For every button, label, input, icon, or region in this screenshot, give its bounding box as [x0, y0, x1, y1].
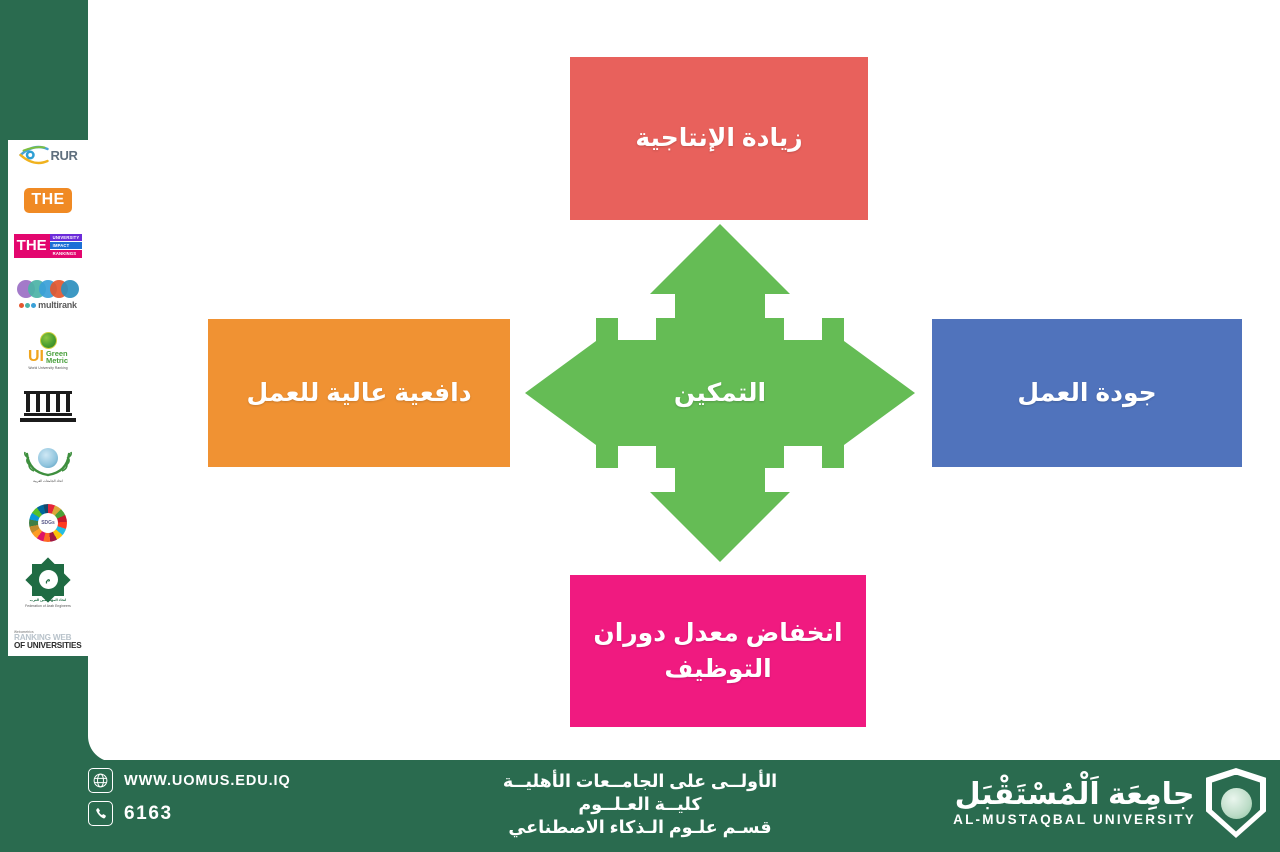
brand-arabic-name: جامِعَة اَلْمُسْتَقْبَل	[953, 779, 1196, 811]
brand-english-name: AL-MUSTAQBAL UNIVERSITY	[953, 812, 1196, 827]
university-shield-emblem	[1206, 768, 1266, 838]
node-top-label: زيادة الإنتاجية	[635, 120, 802, 156]
laurel-wreath-icon	[21, 444, 75, 478]
federation-arab-engineers-logo: م اتحاد المهندسين العرب Federation of Ar…	[10, 564, 86, 608]
university-brand-block: جامِعَة اَلْمُسْتَقْبَل AL-MUSTAQBAL UNI…	[953, 768, 1266, 838]
empowerment-diagram: زيادة الإنتاجية دافعية عالية للعمل جودة …	[0, 0, 1280, 852]
arab-universities-wreath-logo: اتحاد الجامعات العربية	[10, 444, 86, 483]
node-increase-productivity: زيادة الإنتاجية	[570, 57, 868, 220]
arab-universities-caption: اتحاد الجامعات العربية	[33, 479, 63, 483]
multirank-logo-text: multirank	[38, 300, 77, 310]
webometrics-line2: OF UNIVERSITIES	[14, 642, 82, 650]
multirank-dots-icon	[19, 303, 36, 308]
impact-bar-university: UNIVERSITY	[50, 234, 83, 241]
node-high-work-motivation: دافعية عالية للعمل	[208, 319, 510, 467]
rur-logo: RUR	[10, 144, 86, 166]
node-right-label: جودة العمل	[1017, 375, 1156, 411]
greenmetric-caption: World University Ranking	[28, 366, 67, 370]
the-logo-text: THE	[24, 188, 71, 213]
pillars-emblem-logo	[10, 391, 86, 422]
the-logo: THE	[10, 188, 86, 213]
arab-engineers-monogram: م	[39, 570, 58, 589]
rur-logo-text: RUR	[51, 148, 78, 163]
impact-bar-rankings: RANKINGS	[50, 250, 83, 257]
sdg-wheel-logo: SDGs	[10, 504, 86, 542]
pillars-icon	[24, 391, 72, 422]
four-way-arrow-icon	[522, 222, 918, 564]
greenmetric-metric-text: Metric	[46, 357, 68, 365]
impact-bar-impact: IMPACT	[50, 242, 83, 249]
arab-engineers-caption-en: Federation of Arab Engineers	[25, 604, 71, 608]
the-impact-mark: THE	[14, 234, 50, 258]
the-impact-rankings-logo: THE UNIVERSITY IMPACT RANKINGS	[10, 234, 86, 258]
multirank-circles-icon	[17, 279, 79, 299]
sdg-wheel-icon: SDGs	[29, 504, 67, 542]
node-bottom-label: انخفاض معدل دوران التوظيف	[582, 615, 854, 688]
rur-eye-icon	[19, 144, 49, 166]
webometrics-logo: Webometrics RANKING WEB OF UNIVERSITIES	[10, 630, 86, 650]
u-multirank-logo: multirank	[10, 279, 86, 310]
eight-point-star-icon: م	[32, 564, 64, 596]
node-left-label: دافعية عالية للعمل	[246, 375, 471, 411]
ui-greenmetric-logo: UI Green Metric World University Ranking	[10, 332, 86, 370]
node-work-quality: جودة العمل	[932, 319, 1242, 467]
node-low-turnover-rate: انخفاض معدل دوران التوظيف	[570, 575, 866, 727]
greenmetric-globe-icon	[40, 332, 57, 349]
accreditation-logo-strip: RUR THE THE UNIVERSITY IMPACT RANKINGS	[8, 140, 88, 656]
page-footer: WWW.UOMUS.EDU.IQ 6163 الأولــى على الجام…	[0, 760, 1280, 852]
sdg-wheel-text: SDGs	[41, 520, 55, 526]
greenmetric-ui-text: UI	[28, 350, 44, 364]
